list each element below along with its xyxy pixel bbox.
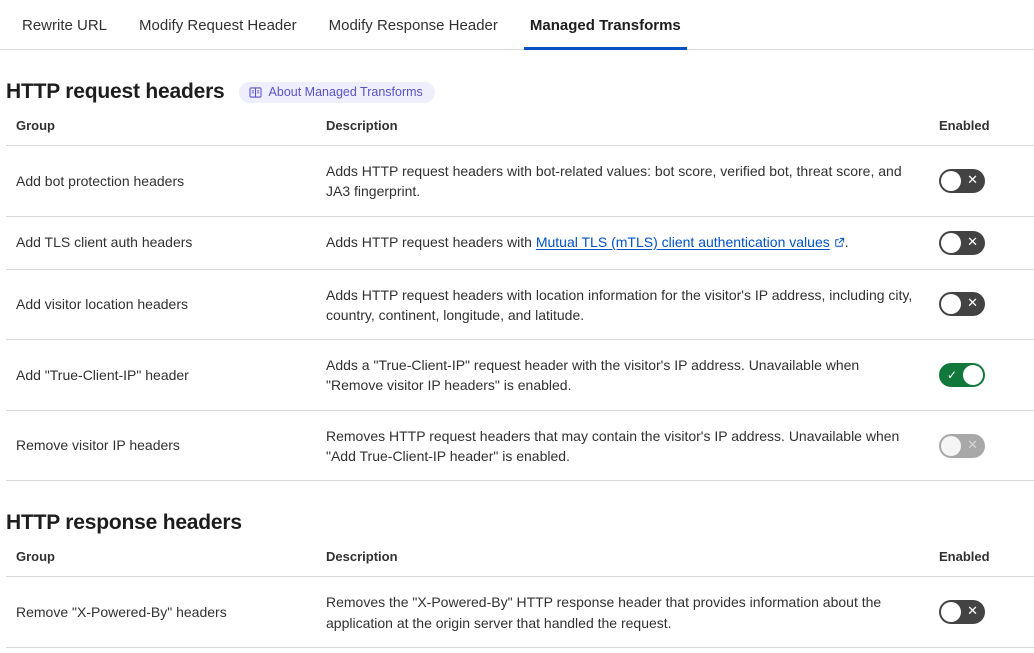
toggle-add-true-client-ip-header[interactable]: ✓ bbox=[939, 363, 985, 387]
row-description: Removes HTTP request headers that may co… bbox=[316, 410, 929, 481]
column-header-group: Group bbox=[6, 549, 316, 577]
row-enabled-cell: ✕ bbox=[929, 269, 1034, 340]
row-group-name: Remove "X-Powered-By" headers bbox=[6, 577, 316, 648]
table-header-row: Group Description Enabled bbox=[6, 549, 1034, 577]
table-row: Add security headers Adds several securi… bbox=[6, 647, 1034, 653]
about-managed-transforms-pill[interactable]: About Managed Transforms bbox=[239, 82, 435, 103]
toggle-remove-visitor-ip-headers: ✕ bbox=[939, 434, 985, 458]
toggle-add-visitor-location-headers[interactable]: ✕ bbox=[939, 292, 985, 316]
table-header-row: Group Description Enabled bbox=[6, 118, 1034, 146]
section-header: HTTP response headers bbox=[6, 481, 1028, 549]
row-description: Adds HTTP request headers with Mutual TL… bbox=[316, 216, 929, 269]
table-row: Add TLS client auth headers Adds HTTP re… bbox=[6, 216, 1034, 269]
section-header: HTTP request headers About Managed Trans… bbox=[6, 50, 1028, 118]
row-group-name: Add security headers bbox=[6, 647, 316, 653]
row-enabled-cell: ✕ bbox=[929, 647, 1034, 653]
toggle-add-bot-protection-headers[interactable]: ✕ bbox=[939, 169, 985, 193]
http-response-headers-section: HTTP response headers Group Description … bbox=[0, 481, 1034, 653]
row-group-name: Add TLS client auth headers bbox=[6, 216, 316, 269]
row-description: Adds several security-related HTTP respo… bbox=[316, 647, 929, 653]
row-group-name: Add bot protection headers bbox=[6, 146, 316, 217]
tab-bar: Rewrite URL Modify Request Header Modify… bbox=[0, 0, 1034, 50]
tab-managed-transforms[interactable]: Managed Transforms bbox=[514, 18, 697, 49]
column-header-description: Description bbox=[316, 549, 929, 577]
toggle-knob bbox=[941, 602, 961, 622]
row-enabled-cell: ✓ bbox=[929, 340, 1034, 411]
mtls-docs-link[interactable]: Mutual TLS (mTLS) client authentication … bbox=[536, 234, 830, 250]
external-link-icon bbox=[834, 233, 845, 253]
toggle-add-tls-client-auth-headers[interactable]: ✕ bbox=[939, 231, 985, 255]
row-description: Adds a "True-Client-IP" request header w… bbox=[316, 340, 929, 411]
column-header-enabled: Enabled bbox=[929, 118, 1034, 146]
table-row: Remove visitor IP headers Removes HTTP r… bbox=[6, 410, 1034, 481]
row-enabled-cell: ✕ bbox=[929, 216, 1034, 269]
page-title: HTTP request headers bbox=[6, 80, 225, 104]
column-header-enabled: Enabled bbox=[929, 549, 1034, 577]
x-icon: ✕ bbox=[967, 169, 978, 193]
toggle-knob bbox=[941, 233, 961, 253]
toggle-knob bbox=[941, 436, 961, 456]
about-pill-label: About Managed Transforms bbox=[269, 86, 423, 99]
toggle-knob bbox=[941, 294, 961, 314]
tab-modify-request-header[interactable]: Modify Request Header bbox=[123, 18, 313, 49]
row-group-name: Add "True-Client-IP" header bbox=[6, 340, 316, 411]
row-description: Adds HTTP request headers with bot-relat… bbox=[316, 146, 929, 217]
row-description: Removes the "X-Powered-By" HTTP response… bbox=[316, 577, 929, 648]
row-enabled-cell: ✕ bbox=[929, 146, 1034, 217]
response-headers-table: Group Description Enabled Remove "X-Powe… bbox=[6, 549, 1034, 653]
request-headers-table: Group Description Enabled Add bot protec… bbox=[6, 118, 1034, 481]
description-prefix: Adds HTTP request headers with bbox=[326, 234, 536, 250]
tab-modify-response-header[interactable]: Modify Response Header bbox=[313, 18, 514, 49]
column-header-description: Description bbox=[316, 118, 929, 146]
row-group-name: Remove visitor IP headers bbox=[6, 410, 316, 481]
x-icon: ✕ bbox=[967, 600, 978, 624]
toggle-knob bbox=[941, 171, 961, 191]
toggle-remove-x-powered-by-headers[interactable]: ✕ bbox=[939, 600, 985, 624]
x-icon: ✕ bbox=[967, 292, 978, 316]
table-row: Add visitor location headers Adds HTTP r… bbox=[6, 269, 1034, 340]
table-row: Add "True-Client-IP" header Adds a "True… bbox=[6, 340, 1034, 411]
section-title-response: HTTP response headers bbox=[6, 511, 242, 535]
check-icon: ✓ bbox=[947, 363, 957, 387]
row-enabled-cell: ✕ bbox=[929, 577, 1034, 648]
x-icon: ✕ bbox=[967, 434, 978, 458]
table-row: Remove "X-Powered-By" headers Removes th… bbox=[6, 577, 1034, 648]
column-header-group: Group bbox=[6, 118, 316, 146]
description-suffix: . bbox=[845, 234, 849, 250]
http-request-headers-section: HTTP request headers About Managed Trans… bbox=[0, 50, 1034, 481]
book-icon bbox=[249, 86, 262, 99]
toggle-knob bbox=[963, 365, 983, 385]
tab-rewrite-url[interactable]: Rewrite URL bbox=[6, 18, 123, 49]
x-icon: ✕ bbox=[967, 231, 978, 255]
table-row: Add bot protection headers Adds HTTP req… bbox=[6, 146, 1034, 217]
row-group-name: Add visitor location headers bbox=[6, 269, 316, 340]
row-enabled-cell: ✕ bbox=[929, 410, 1034, 481]
row-description: Adds HTTP request headers with location … bbox=[316, 269, 929, 340]
